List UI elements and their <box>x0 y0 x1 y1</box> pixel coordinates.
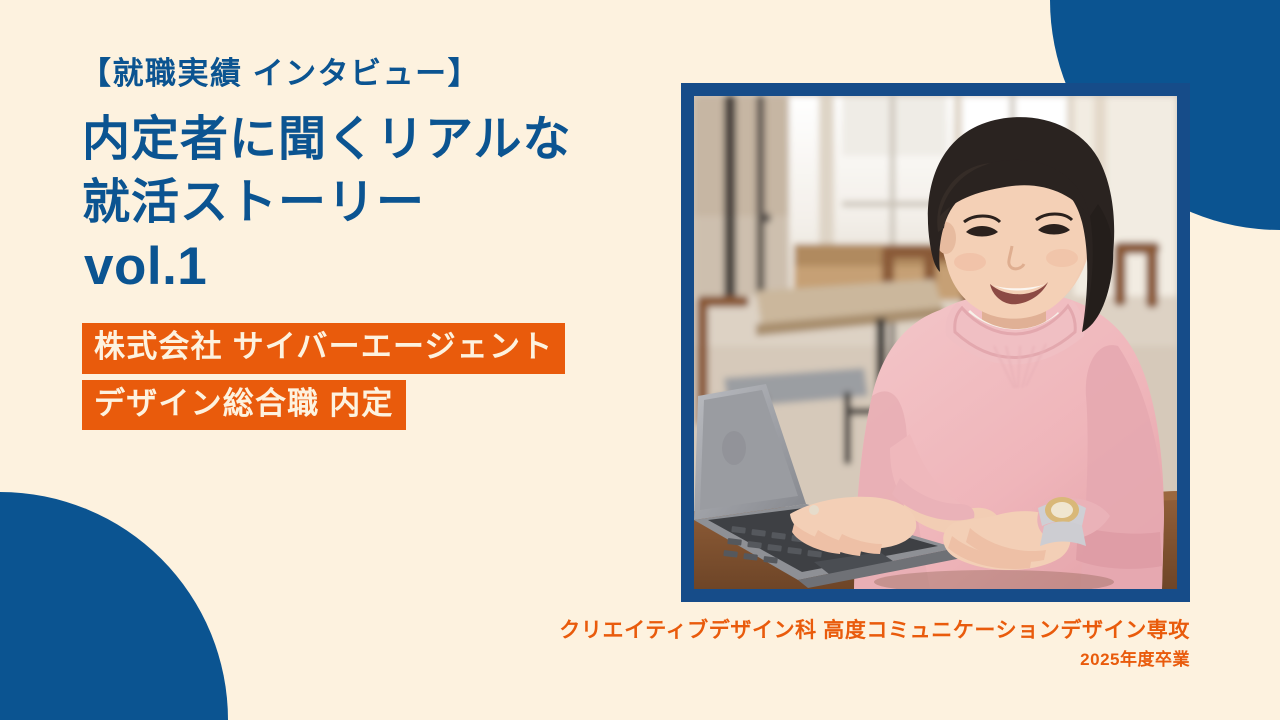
volume-label: vol.1 <box>84 238 207 296</box>
status-badge-role: デザイン総合職 内定 <box>82 380 406 431</box>
eyebrow-label: 【就職実績 インタビュー】 <box>80 55 480 92</box>
poster-canvas: 【就職実績 インタビュー】 内定者に聞くリアルな 就活ストーリー vol.1 株… <box>0 0 1280 720</box>
caption-block: クリエイティブデザイン科 高度コミュニケーションデザイン専攻 2025年度卒業 <box>559 618 1190 671</box>
page-title: 内定者に聞くリアルな 就活ストーリー <box>82 108 662 235</box>
photo-illustration <box>694 96 1177 589</box>
caption-major: クリエイティブデザイン科 高度コミュニケーションデザイン専攻 <box>559 618 1190 644</box>
text-column: 【就職実績 インタビュー】 内定者に聞くリアルな 就活ストーリー vol.1 株… <box>0 0 660 720</box>
badge-group: 株式会社 サイバーエージェント デザイン総合職 内定 <box>82 323 565 430</box>
headline-line-2: 就活ストーリー <box>82 171 662 234</box>
caption-graduation-year: 2025年度卒業 <box>559 650 1190 670</box>
status-badge-company: 株式会社 サイバーエージェント <box>82 323 565 374</box>
headline-line-1: 内定者に聞くリアルな <box>82 108 662 171</box>
photo-frame <box>681 83 1190 602</box>
interviewee-photo <box>694 96 1177 589</box>
